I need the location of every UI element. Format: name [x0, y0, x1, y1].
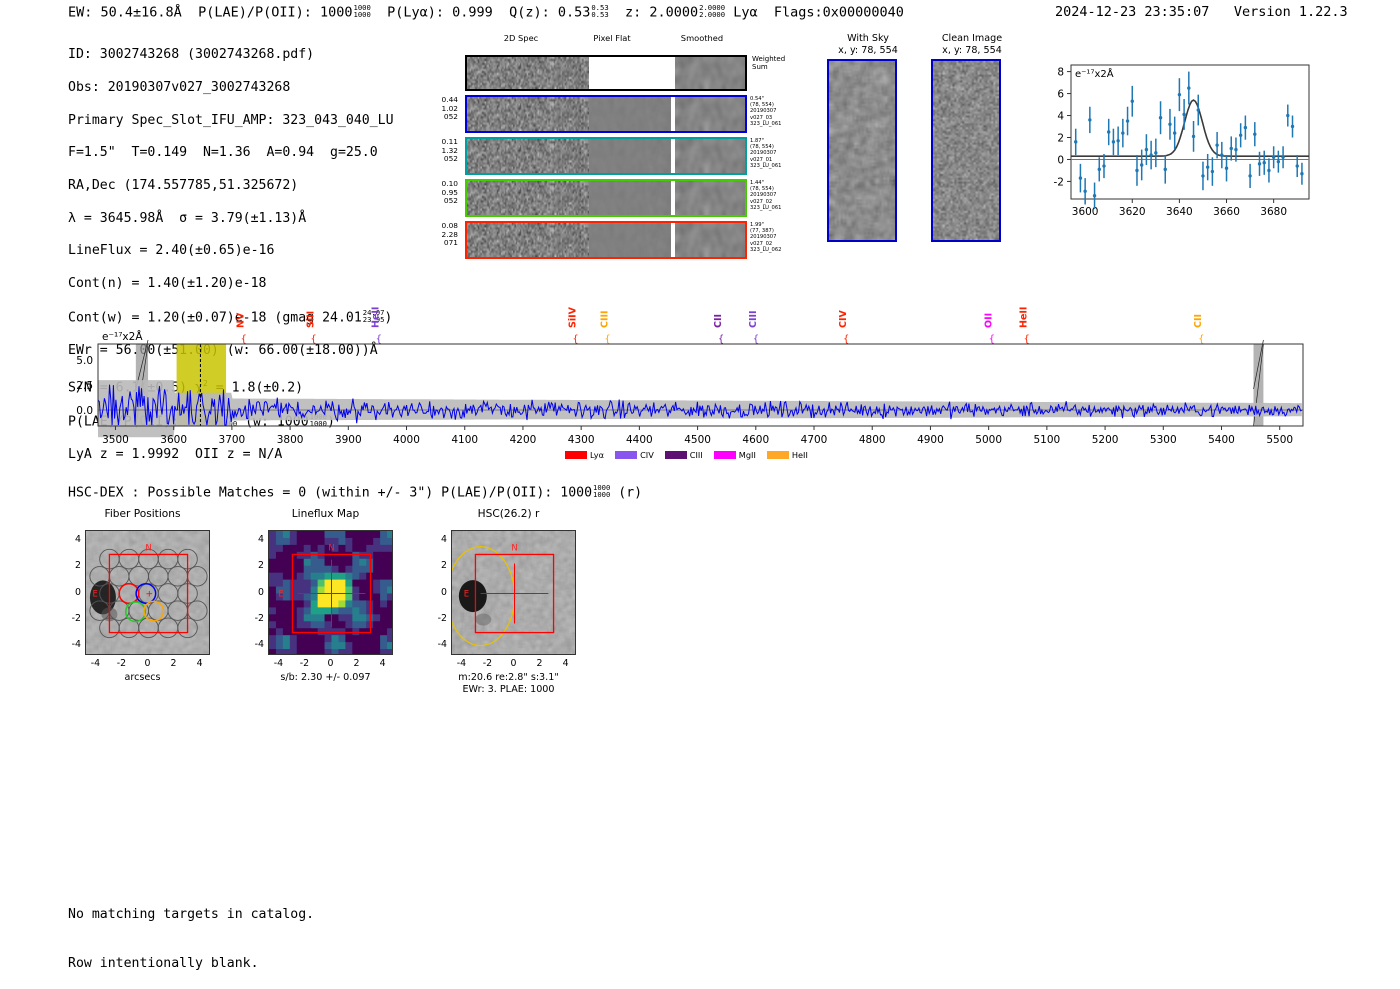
- svg-text:3500: 3500: [102, 434, 129, 446]
- panel-smoothed: [675, 181, 745, 215]
- legend-item-heii: HeII: [767, 450, 808, 460]
- column-title-2dspec: 2D Spec: [486, 33, 556, 43]
- imaging-panel-1: Lineflux MapNE-4-4-2-2002244s/b: 2.30 +/…: [238, 508, 418, 723]
- svg-text:5300: 5300: [1150, 434, 1177, 446]
- panel-gap: [671, 97, 675, 131]
- svg-text:4900: 4900: [917, 434, 944, 446]
- full-spectrum-plot: e⁻¹⁷x2Å0.02.55.0350036003700380039004000…: [68, 318, 1313, 448]
- panel-0-ytick: 2: [63, 560, 81, 571]
- svg-text:4700: 4700: [801, 434, 828, 446]
- svg-text:4400: 4400: [626, 434, 653, 446]
- info-line-lineflux: LineFlux = 2.40(±0.65)e-16: [68, 243, 394, 259]
- spec2d-row-3-left-label: 0.10 0.95 052: [424, 180, 458, 206]
- svg-text:4300: 4300: [568, 434, 595, 446]
- spectrum-legend: LyαCIVCIIIMgIIHeII: [565, 450, 819, 460]
- panel-2-xtick: -4: [452, 658, 470, 669]
- emission-line-fit-plot: e⁻¹⁷x2Å-20246836003620364036603680: [1035, 55, 1315, 225]
- weighted-sum-label: Weighted Sum: [752, 55, 785, 72]
- spec2d-row-2-left-label: 0.11 1.32 052: [424, 138, 458, 164]
- z-range: 2.00002.0000: [699, 4, 725, 19]
- panel-xlabel: m:20.6 re:2.8" s:3.1": [411, 672, 606, 684]
- panel-1-ytick: 0: [246, 587, 264, 598]
- cutout-title-clean-image: Clean Imagex, y: 78, 554: [922, 33, 1022, 56]
- svg-text:3660: 3660: [1213, 206, 1240, 218]
- svg-text:E: E: [464, 590, 469, 600]
- info-line-wavelength: λ = 3645.98Å σ = 3.79(±1.13)Å: [68, 211, 394, 227]
- panel-gap: [671, 181, 675, 215]
- svg-text:{: {: [1023, 334, 1029, 345]
- panel-sublabel: EWr: 3. PLAE: 1000: [411, 684, 606, 696]
- spec2d-row-1[interactable]: [465, 95, 747, 133]
- panel-2-xtick: 2: [531, 658, 549, 669]
- z-label: z:: [625, 4, 641, 20]
- svg-text:0.0: 0.0: [76, 405, 93, 417]
- panel-pixelflat: [589, 139, 671, 173]
- panel-1-xtick: 2: [348, 658, 366, 669]
- svg-text:2: 2: [1057, 132, 1064, 144]
- plae-label: P(LAE)/P(OII):: [198, 4, 312, 20]
- flags-value: Flags:0x00000040: [774, 4, 904, 20]
- panel-0-xtick: 2: [165, 658, 183, 669]
- panel-2-ytick: 4: [429, 534, 447, 545]
- version-label: Version 1.22.3: [1234, 4, 1348, 20]
- panel-2dspec: [467, 139, 589, 173]
- panel-gap: [671, 57, 675, 89]
- svg-text:N: N: [328, 544, 334, 554]
- svg-text:3680: 3680: [1260, 206, 1287, 218]
- spec2d-row-2-right-label: 1.87" (78, 554) 20190307 v027_01 323_LU_…: [750, 138, 781, 169]
- svg-text:4200: 4200: [510, 434, 537, 446]
- info-line-primary-spec: Primary Spec_Slot_IFU_AMP: 323_043_040_L…: [68, 113, 394, 129]
- panel-1-ytick: -4: [246, 639, 264, 650]
- panel-gap: [671, 223, 675, 257]
- svg-text:CII: CII: [1193, 314, 1204, 328]
- svg-text:SiIV: SiIV: [567, 306, 578, 328]
- svg-text:{: {: [310, 334, 316, 345]
- svg-text:CIV: CIV: [838, 309, 849, 328]
- panel-pixelflat: [589, 97, 671, 131]
- svg-text:8: 8: [1057, 67, 1064, 79]
- imaging-panel-0: Fiber Positions+NE-4-4-2-2002244arcsecs: [55, 508, 235, 723]
- svg-text:{: {: [1198, 334, 1204, 345]
- panel-0-ytick: 0: [63, 587, 81, 598]
- svg-text:OII: OII: [984, 313, 995, 328]
- info-line-radec: RA,Dec (174.557785,51.325672): [68, 178, 394, 194]
- panel-0-ytick: 4: [63, 534, 81, 545]
- svg-text:CII: CII: [713, 314, 724, 328]
- svg-text:{: {: [604, 334, 610, 345]
- panel-xlabel: arcsecs: [45, 672, 240, 684]
- z-type: Lyα: [733, 4, 757, 20]
- panel-0-xtick: 0: [139, 658, 157, 669]
- legend-item-mgii: MgII: [714, 450, 756, 460]
- info-line-id: ID: 3002743268 (3002743268.pdf): [68, 47, 394, 63]
- panel-1-ytick: 4: [246, 534, 264, 545]
- panel-smoothed: [675, 139, 745, 173]
- panel-title: HSC(26.2) r: [421, 508, 596, 520]
- spec2d-row-4[interactable]: [465, 221, 747, 259]
- svg-text:5400: 5400: [1208, 434, 1235, 446]
- svg-text:HeII: HeII: [371, 307, 382, 328]
- svg-text:3700: 3700: [219, 434, 246, 446]
- qz-value: 0.53: [558, 4, 591, 20]
- panel-2-ytick: 0: [429, 587, 447, 598]
- info-line-obs: Obs: 20190307v027_3002743268: [68, 80, 394, 96]
- qz-range: 0.530.53: [591, 4, 608, 19]
- panel-1-ytick: 2: [246, 560, 264, 571]
- imaging-panels: Fiber Positions+NE-4-4-2-2002244arcsecsL…: [55, 508, 655, 728]
- svg-text:e⁻¹⁷x2Å: e⁻¹⁷x2Å: [102, 330, 143, 343]
- header-summary-line: EW: 50.4±16.8Å P(LAE)/P(OII): 1000100010…: [68, 4, 904, 20]
- panel-0-ytick: -2: [63, 613, 81, 624]
- spec2d-row-1-right-label: 0.54" (78, 554) 20190307 v027_03 323_LU_…: [750, 96, 781, 127]
- svg-text:2.5: 2.5: [76, 380, 93, 392]
- svg-text:{: {: [843, 334, 849, 345]
- svg-text:{: {: [753, 334, 759, 345]
- legend-label: HeII: [792, 450, 808, 460]
- svg-text:E: E: [278, 590, 283, 600]
- panel-1-xtick: 0: [322, 658, 340, 669]
- spec2d-row-3[interactable]: [465, 179, 747, 217]
- svg-text:5500: 5500: [1266, 434, 1293, 446]
- hsc-dex-text: HSC-DEX : Possible Matches = 0 (within +…: [68, 485, 592, 500]
- footer-line-1: No matching targets in catalog.: [68, 907, 314, 923]
- column-title-smoothed: Smoothed: [667, 33, 737, 43]
- panel-subtitle-2: m:20.6 re:2.8" s:3.1"EWr: 3. PLAE: 1000: [411, 672, 606, 695]
- panel-2dspec: [467, 57, 589, 89]
- panel-1-xtick: -2: [295, 658, 313, 669]
- panel-title: Lineflux Map: [238, 508, 413, 520]
- ew-label: EW:: [68, 4, 92, 20]
- z-value: 2.0000: [649, 4, 698, 20]
- svg-text:5100: 5100: [1033, 434, 1060, 446]
- cutout-image-with-sky[interactable]: [827, 59, 897, 242]
- 2d-spectrum-panels: 2D Spec Pixel Flat Smoothed Weighted Sum…: [430, 33, 760, 248]
- svg-text:4100: 4100: [451, 434, 478, 446]
- panel-image-0[interactable]: +NE: [85, 530, 210, 655]
- panel-2-xtick: 0: [505, 658, 523, 669]
- panel-2-xtick: 4: [557, 658, 575, 669]
- svg-text:3600: 3600: [160, 434, 187, 446]
- svg-text:NV: NV: [236, 312, 247, 328]
- legend-item-civ: CIV: [615, 450, 654, 460]
- svg-text:+: +: [146, 590, 154, 600]
- legend-swatch: [767, 451, 789, 459]
- hsc-dex-filter: (r): [610, 485, 642, 500]
- panel-2-ytick: 2: [429, 560, 447, 571]
- legend-label: CIV: [640, 450, 654, 460]
- qz-label: Q(z):: [509, 4, 550, 20]
- panel-1-xtick: -4: [269, 658, 287, 669]
- panel-smoothed: [675, 223, 745, 257]
- panel-pixelflat: [589, 57, 671, 89]
- panel-2dspec: [467, 181, 589, 215]
- panel-2-ytick: -2: [429, 613, 447, 624]
- legend-label: MgII: [739, 450, 756, 460]
- cutout-image-clean[interactable]: [931, 59, 1001, 242]
- panel-0-xtick: -2: [112, 658, 130, 669]
- spec2d-row-4-right-label: 1.99" (77, 387) 20190307 v027_02 323_LU_…: [750, 222, 781, 253]
- spec2d-row-4-left-label: 0.08 2.28 071: [424, 222, 458, 248]
- panel-0-xtick: -4: [86, 658, 104, 669]
- spec2d-row-2[interactable]: [465, 137, 747, 175]
- panel-image-1[interactable]: NE: [268, 530, 393, 655]
- panel-title: Fiber Positions: [55, 508, 230, 520]
- legend-item-lyα: Lyα: [565, 450, 604, 460]
- panel-2-xtick: -2: [478, 658, 496, 669]
- svg-text:3640: 3640: [1166, 206, 1193, 218]
- svg-text:N: N: [511, 544, 517, 554]
- legend-swatch: [565, 451, 587, 459]
- svg-text:e⁻¹⁷x2Å: e⁻¹⁷x2Å: [1075, 67, 1114, 80]
- plae-range: 10001000: [354, 4, 371, 19]
- svg-text:{: {: [241, 334, 247, 345]
- info-line-params: F=1.5" T=0.149 N=1.36 A=0.94 g=25.0: [68, 145, 394, 161]
- svg-text:4500: 4500: [684, 434, 711, 446]
- panel-subtitle-0: arcsecs: [45, 672, 240, 684]
- plae-value: 1000: [320, 4, 353, 20]
- panel-1-ytick: -2: [246, 613, 264, 624]
- info-line-redshifts: LyA z = 1.9992 OII z = N/A: [68, 447, 394, 463]
- svg-text:4: 4: [1057, 111, 1064, 123]
- panel-2dspec: [467, 97, 589, 131]
- svg-text:6: 6: [1057, 89, 1064, 101]
- spec2d-row-3-right-label: 1.44" (78, 554) 20190307 v027_02 323_LU_…: [750, 180, 781, 211]
- svg-text:3900: 3900: [335, 434, 362, 446]
- cutout-title-with-sky: With Skyx, y: 78, 554: [818, 33, 918, 56]
- panel-pixelflat: [589, 181, 671, 215]
- panel-0-xtick: 4: [191, 658, 209, 669]
- svg-text:E: E: [93, 590, 98, 600]
- svg-text:0: 0: [1057, 154, 1064, 166]
- legend-label: CIII: [690, 450, 703, 460]
- panel-image-2[interactable]: NE: [451, 530, 576, 655]
- plya-label: P(Lyα):: [387, 4, 444, 20]
- panel-smoothed: [675, 57, 745, 89]
- header-timestamp-version: 2024-12-23 23:35:07 Version 1.22.3: [1055, 4, 1348, 20]
- svg-text:3620: 3620: [1119, 206, 1146, 218]
- panel-2-ytick: -4: [429, 639, 447, 650]
- svg-text:HeII: HeII: [1018, 307, 1029, 328]
- column-title-pixelflat: Pixel Flat: [577, 33, 647, 43]
- panel-2dspec: [467, 223, 589, 257]
- spec2d-row-1-left-label: 0.44 1.02 052: [424, 96, 458, 122]
- legend-label: Lyα: [590, 450, 604, 460]
- svg-text:4600: 4600: [742, 434, 769, 446]
- info-line-cont-n: Cont(n) = 1.40(±1.20)e-18: [68, 276, 394, 292]
- svg-text:SiII: SiII: [305, 311, 316, 328]
- svg-text:CIII: CIII: [599, 310, 610, 328]
- hsc-dex-plae-range: 10001000: [593, 484, 610, 499]
- footer-note: No matching targets in catalog. Row inte…: [68, 874, 314, 989]
- svg-text:4000: 4000: [393, 434, 420, 446]
- svg-text:5200: 5200: [1092, 434, 1119, 446]
- cutout-images: With Skyx, y: 78, 554 Clean Imagex, y: 7…: [810, 33, 1020, 248]
- svg-text:{: {: [572, 334, 578, 345]
- ew-value: 50.4±16.8Å: [101, 4, 182, 20]
- svg-text:3800: 3800: [277, 434, 304, 446]
- svg-text:{: {: [718, 334, 724, 345]
- legend-item-ciii: CIII: [665, 450, 703, 460]
- panel-xlabel: s/b: 2.30 +/- 0.097: [228, 672, 423, 684]
- svg-text:{: {: [989, 334, 995, 345]
- panel-1-xtick: 4: [374, 658, 392, 669]
- imaging-panel-2: HSC(26.2) rNE-4-4-2-2002244m:20.6 re:2.8…: [421, 508, 601, 723]
- svg-text:{: {: [376, 334, 382, 345]
- panel-0-ytick: -4: [63, 639, 81, 650]
- svg-text:4800: 4800: [859, 434, 886, 446]
- svg-text:N: N: [145, 544, 151, 554]
- spec2d-row-0[interactable]: [465, 55, 747, 91]
- panel-gap: [671, 139, 675, 173]
- svg-text:-2: -2: [1054, 176, 1064, 188]
- legend-swatch: [714, 451, 736, 459]
- panel-smoothed: [675, 97, 745, 131]
- svg-text:5.0: 5.0: [76, 355, 93, 367]
- svg-text:CIII: CIII: [748, 310, 759, 328]
- panel-subtitle-1: s/b: 2.30 +/- 0.097: [228, 672, 423, 684]
- hsc-dex-summary: HSC-DEX : Possible Matches = 0 (within +…: [68, 484, 642, 500]
- timestamp: 2024-12-23 23:35:07: [1055, 4, 1209, 20]
- panel-pixelflat: [589, 223, 671, 257]
- footer-line-2: Row intentionally blank.: [68, 956, 314, 972]
- legend-swatch: [615, 451, 637, 459]
- svg-text:5000: 5000: [975, 434, 1002, 446]
- legend-swatch: [665, 451, 687, 459]
- plya-value: 0.999: [452, 4, 493, 20]
